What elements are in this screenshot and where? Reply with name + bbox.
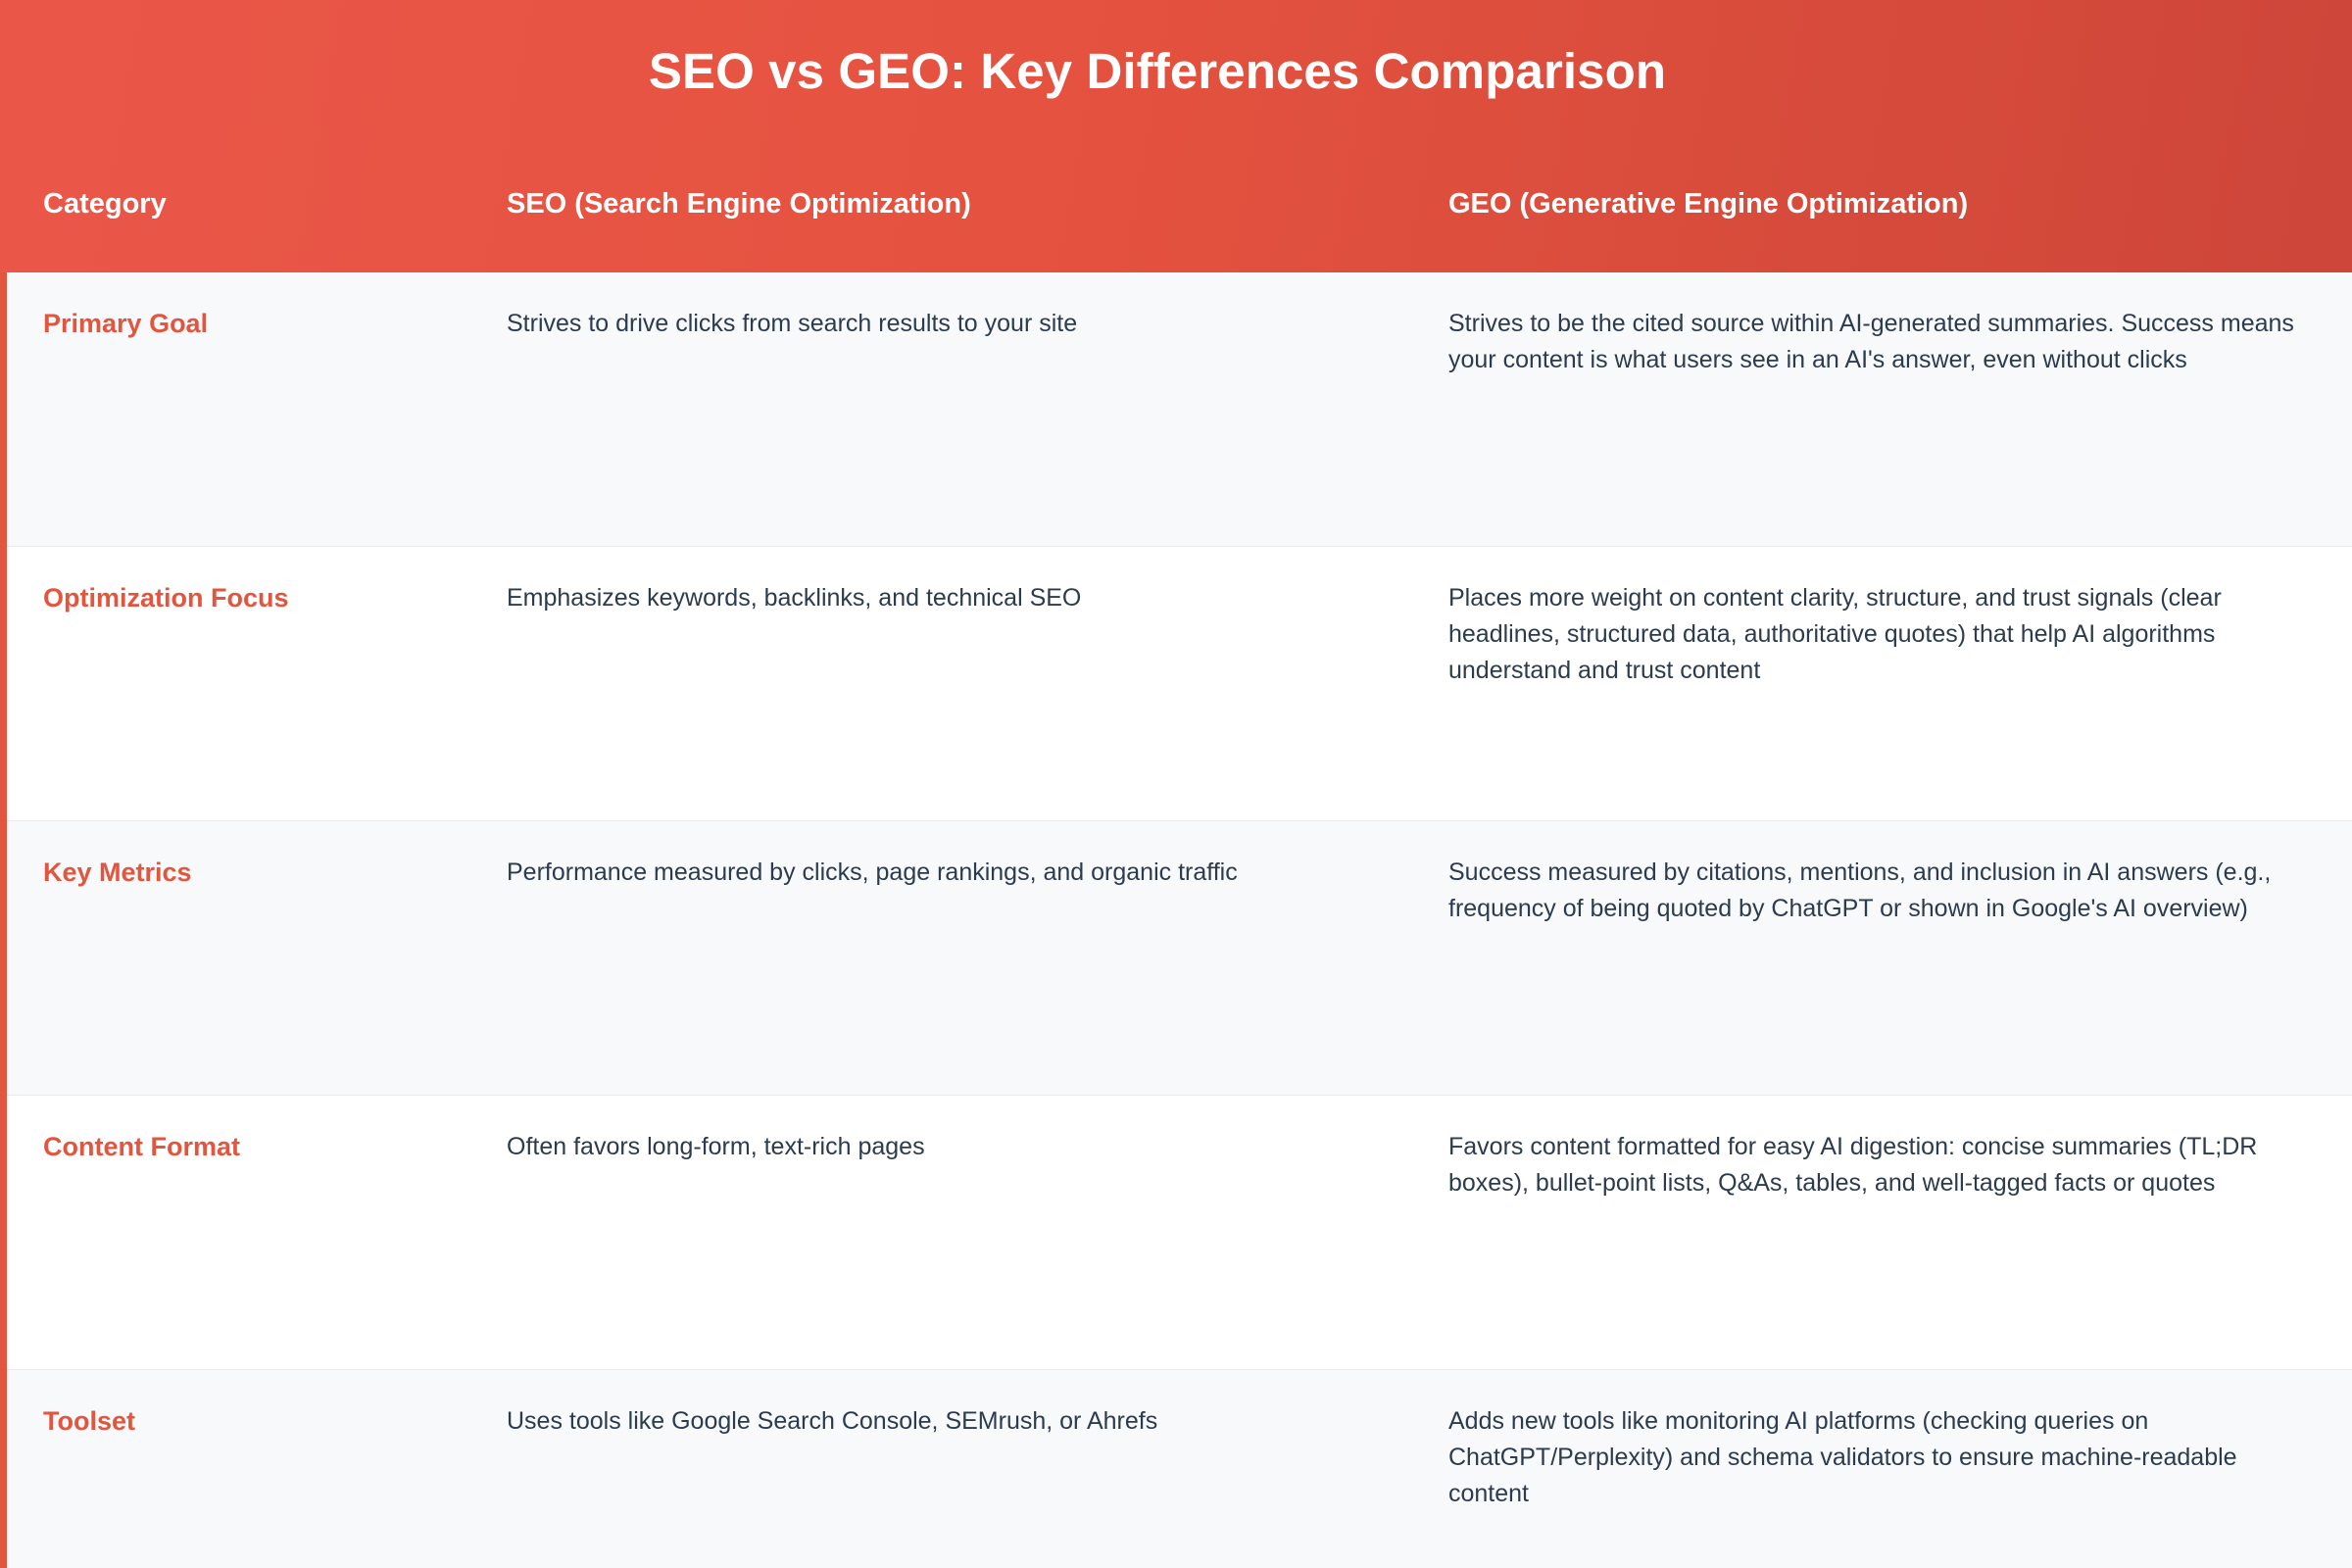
table-column-header-row: Category SEO (Search Engine Optimization…	[0, 186, 2352, 241]
table-row: Content Format Often favors long-form, t…	[0, 1096, 2352, 1370]
row-category-label: Optimization Focus	[43, 580, 484, 615]
table-row: Optimization Focus Emphasizes keywords, …	[0, 547, 2352, 821]
table-header-banner: SEO vs GEO: Key Differences Comparison C…	[0, 0, 2352, 272]
row-geo-description: Adds new tools like monitoring AI platfo…	[1448, 1403, 2321, 1512]
row-seo-description: Emphasizes keywords, backlinks, and tech…	[507, 580, 1418, 616]
column-header-category: Category	[43, 186, 167, 221]
row-category-label: Toolset	[43, 1403, 484, 1439]
column-header-geo: GEO (Generative Engine Optimization)	[1448, 186, 1968, 221]
table-row: Toolset Uses tools like Google Search Co…	[0, 1370, 2352, 1568]
row-category-label: Key Metrics	[43, 855, 484, 890]
row-geo-description: Favors content formatted for easy AI dig…	[1448, 1129, 2321, 1201]
row-geo-description: Success measured by citations, mentions,…	[1448, 855, 2321, 927]
table-row: Key Metrics Performance measured by clic…	[0, 821, 2352, 1096]
row-seo-description: Uses tools like Google Search Console, S…	[507, 1403, 1418, 1440]
row-geo-description: Places more weight on content clarity, s…	[1448, 580, 2321, 689]
row-seo-description: Strives to drive clicks from search resu…	[507, 306, 1418, 342]
page-title: SEO vs GEO: Key Differences Comparison	[0, 41, 2352, 101]
row-geo-description: Strives to be the cited source within AI…	[1448, 306, 2321, 378]
table-row: Primary Goal Strives to drive clicks fro…	[0, 272, 2352, 547]
column-header-seo: SEO (Search Engine Optimization)	[507, 186, 971, 221]
left-accent-rail	[0, 272, 7, 1568]
table-body: Primary Goal Strives to drive clicks fro…	[0, 272, 2352, 1568]
row-category-label: Primary Goal	[43, 306, 484, 341]
row-seo-description: Performance measured by clicks, page ran…	[507, 855, 1418, 891]
row-category-label: Content Format	[43, 1129, 484, 1164]
row-seo-description: Often favors long-form, text-rich pages	[507, 1129, 1418, 1165]
seo-geo-comparison-table: SEO vs GEO: Key Differences Comparison C…	[0, 0, 2352, 1568]
